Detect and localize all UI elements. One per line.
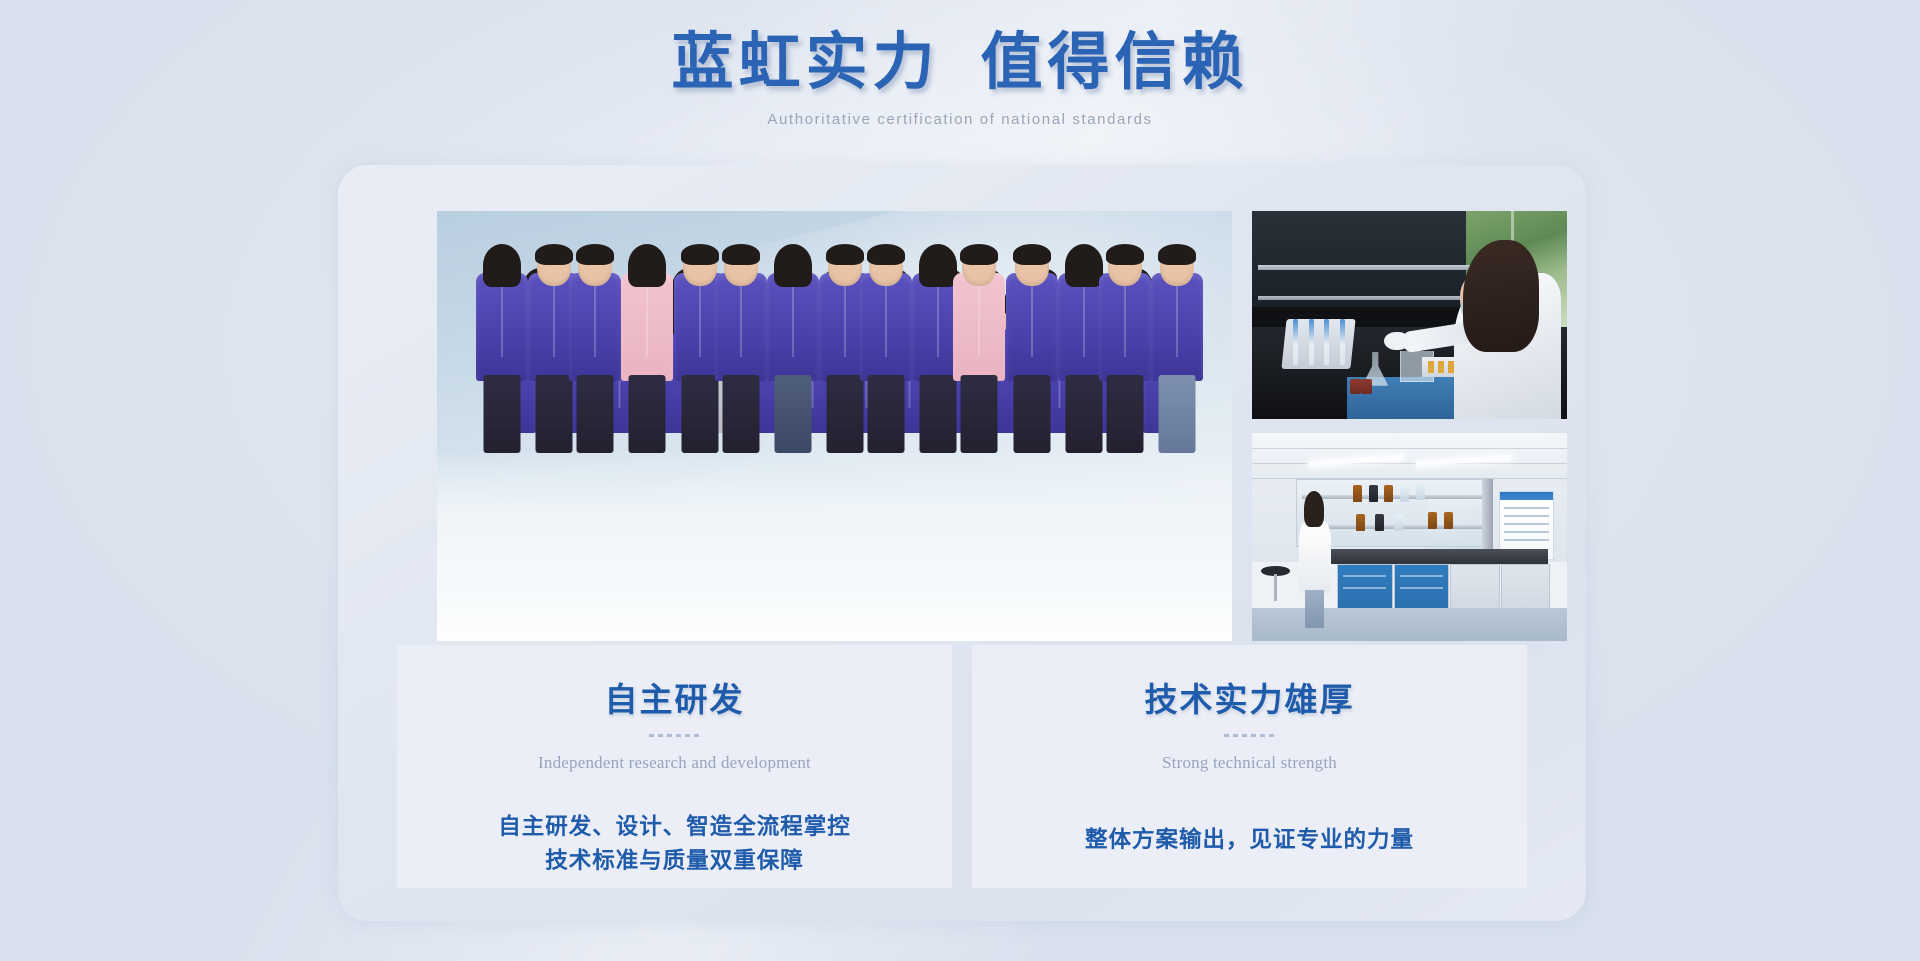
reagent-bottle-icon bbox=[1356, 514, 1365, 531]
staff-hair bbox=[628, 244, 666, 287]
staff-member bbox=[715, 244, 767, 459]
staff-hair bbox=[1013, 244, 1051, 265]
card-english-subtitle: Strong technical strength bbox=[996, 753, 1503, 773]
staff-uniform bbox=[1151, 273, 1203, 381]
staff-uniform bbox=[1006, 273, 1058, 381]
staff-legs bbox=[484, 375, 521, 453]
reagent-bottle-icon bbox=[1428, 512, 1437, 529]
staff-uniform bbox=[569, 273, 621, 381]
lab-interior-scene bbox=[1252, 433, 1567, 641]
page-title: 蓝虹实力 值得信赖 bbox=[0, 30, 1920, 97]
staff-hair bbox=[722, 244, 760, 265]
content-panel: 自主研发 Independent research and developmen… bbox=[338, 165, 1586, 921]
staff-legs bbox=[827, 375, 864, 453]
staff-member bbox=[569, 244, 621, 459]
staff-hair bbox=[681, 244, 719, 265]
lab-interior-photo[interactable] bbox=[1252, 433, 1567, 641]
lab-stool bbox=[1261, 566, 1289, 603]
page-header: 蓝虹实力 值得信赖 Authoritative certification of… bbox=[0, 30, 1920, 128]
dashed-divider bbox=[649, 734, 701, 737]
lab-technician-scene bbox=[1252, 211, 1567, 419]
staff-uniform bbox=[715, 273, 767, 381]
staff-legs bbox=[1159, 375, 1196, 453]
staff-legs bbox=[577, 375, 614, 453]
pipette-icon bbox=[1324, 319, 1329, 365]
media-gallery bbox=[397, 195, 1527, 625]
reagent-bottle-icon bbox=[1375, 514, 1384, 531]
staff-hair bbox=[483, 244, 521, 287]
staff-legs bbox=[961, 375, 998, 453]
staff-member bbox=[1006, 244, 1058, 459]
reagent-vial-icon bbox=[1350, 379, 1361, 394]
lab-scientist bbox=[1299, 491, 1331, 628]
reagent-vial-icon bbox=[1361, 379, 1372, 394]
staff-legs bbox=[629, 375, 666, 453]
staff-hair bbox=[1158, 244, 1196, 265]
staff-hair bbox=[576, 244, 614, 265]
technician-glove bbox=[1384, 332, 1409, 351]
reagent-bottle-icon bbox=[1384, 485, 1393, 502]
staff-uniform bbox=[767, 273, 819, 381]
reagent-bottle-icon bbox=[1400, 485, 1409, 502]
lab-technician-photo[interactable] bbox=[1252, 211, 1567, 419]
dashed-divider bbox=[1224, 734, 1276, 737]
feature-card-list: 自主研发 Independent research and developmen… bbox=[397, 645, 1527, 888]
card-english-subtitle: Independent research and development bbox=[421, 753, 928, 773]
staff-hair bbox=[960, 244, 998, 265]
feature-card-technical-strength[interactable]: 技术实力雄厚 Strong technical strength 整体方案输出，… bbox=[972, 645, 1527, 888]
staff-member bbox=[621, 244, 673, 459]
staff-uniform bbox=[621, 273, 673, 381]
staff-legs bbox=[722, 375, 759, 453]
staff-legs bbox=[920, 375, 957, 453]
staff-hair bbox=[774, 244, 812, 287]
reagent-bottle-icon bbox=[1394, 514, 1403, 531]
staff-uniform bbox=[476, 273, 528, 381]
staff-member bbox=[860, 244, 912, 459]
staff-member bbox=[1151, 244, 1203, 459]
card-title: 技术实力雄厚 bbox=[996, 673, 1503, 721]
card-description: 自主研发、设计、智造全流程掌控 技术标准与质量双重保障 bbox=[421, 810, 928, 878]
staff-legs bbox=[536, 375, 573, 453]
pipette-icon bbox=[1309, 319, 1314, 365]
staff-member bbox=[1099, 244, 1151, 459]
staff-crowd bbox=[437, 283, 1232, 583]
staff-legs bbox=[868, 375, 905, 453]
reagent-bottle-icon bbox=[1416, 483, 1425, 500]
staff-member bbox=[953, 244, 1005, 459]
reagent-bottle-icon bbox=[1369, 485, 1378, 502]
page-subtitle: Authoritative certification of national … bbox=[0, 111, 1920, 128]
staff-hair bbox=[919, 244, 957, 287]
staff-hair bbox=[826, 244, 864, 265]
group-photo[interactable] bbox=[437, 211, 1232, 641]
pipette-icon bbox=[1340, 319, 1345, 365]
staff-hair bbox=[1065, 244, 1103, 287]
staff-legs bbox=[1013, 375, 1050, 453]
staff-legs bbox=[681, 375, 718, 453]
staff-uniform bbox=[1099, 273, 1151, 381]
staff-member bbox=[476, 244, 528, 459]
card-title: 自主研发 bbox=[421, 673, 928, 721]
lab-island-bench bbox=[1302, 549, 1548, 564]
staff-legs bbox=[774, 375, 811, 453]
staff-uniform bbox=[953, 273, 1005, 381]
staff-hair bbox=[535, 244, 573, 265]
staff-legs bbox=[1106, 375, 1143, 453]
lab-back-wall bbox=[1252, 211, 1473, 307]
staff-uniform bbox=[860, 273, 912, 381]
pipette-icon bbox=[1293, 319, 1298, 365]
staff-member bbox=[767, 244, 819, 459]
staff-hair bbox=[1106, 244, 1144, 265]
reagent-bottle-icon bbox=[1353, 485, 1362, 502]
staff-hair bbox=[867, 244, 905, 265]
card-description: 整体方案输出，见证专业的力量 bbox=[996, 823, 1503, 857]
reagent-bottle-icon bbox=[1444, 512, 1453, 529]
feature-card-independent-rd[interactable]: 自主研发 Independent research and developmen… bbox=[397, 645, 952, 888]
staff-legs bbox=[1065, 375, 1102, 453]
technician-hair bbox=[1463, 240, 1539, 352]
